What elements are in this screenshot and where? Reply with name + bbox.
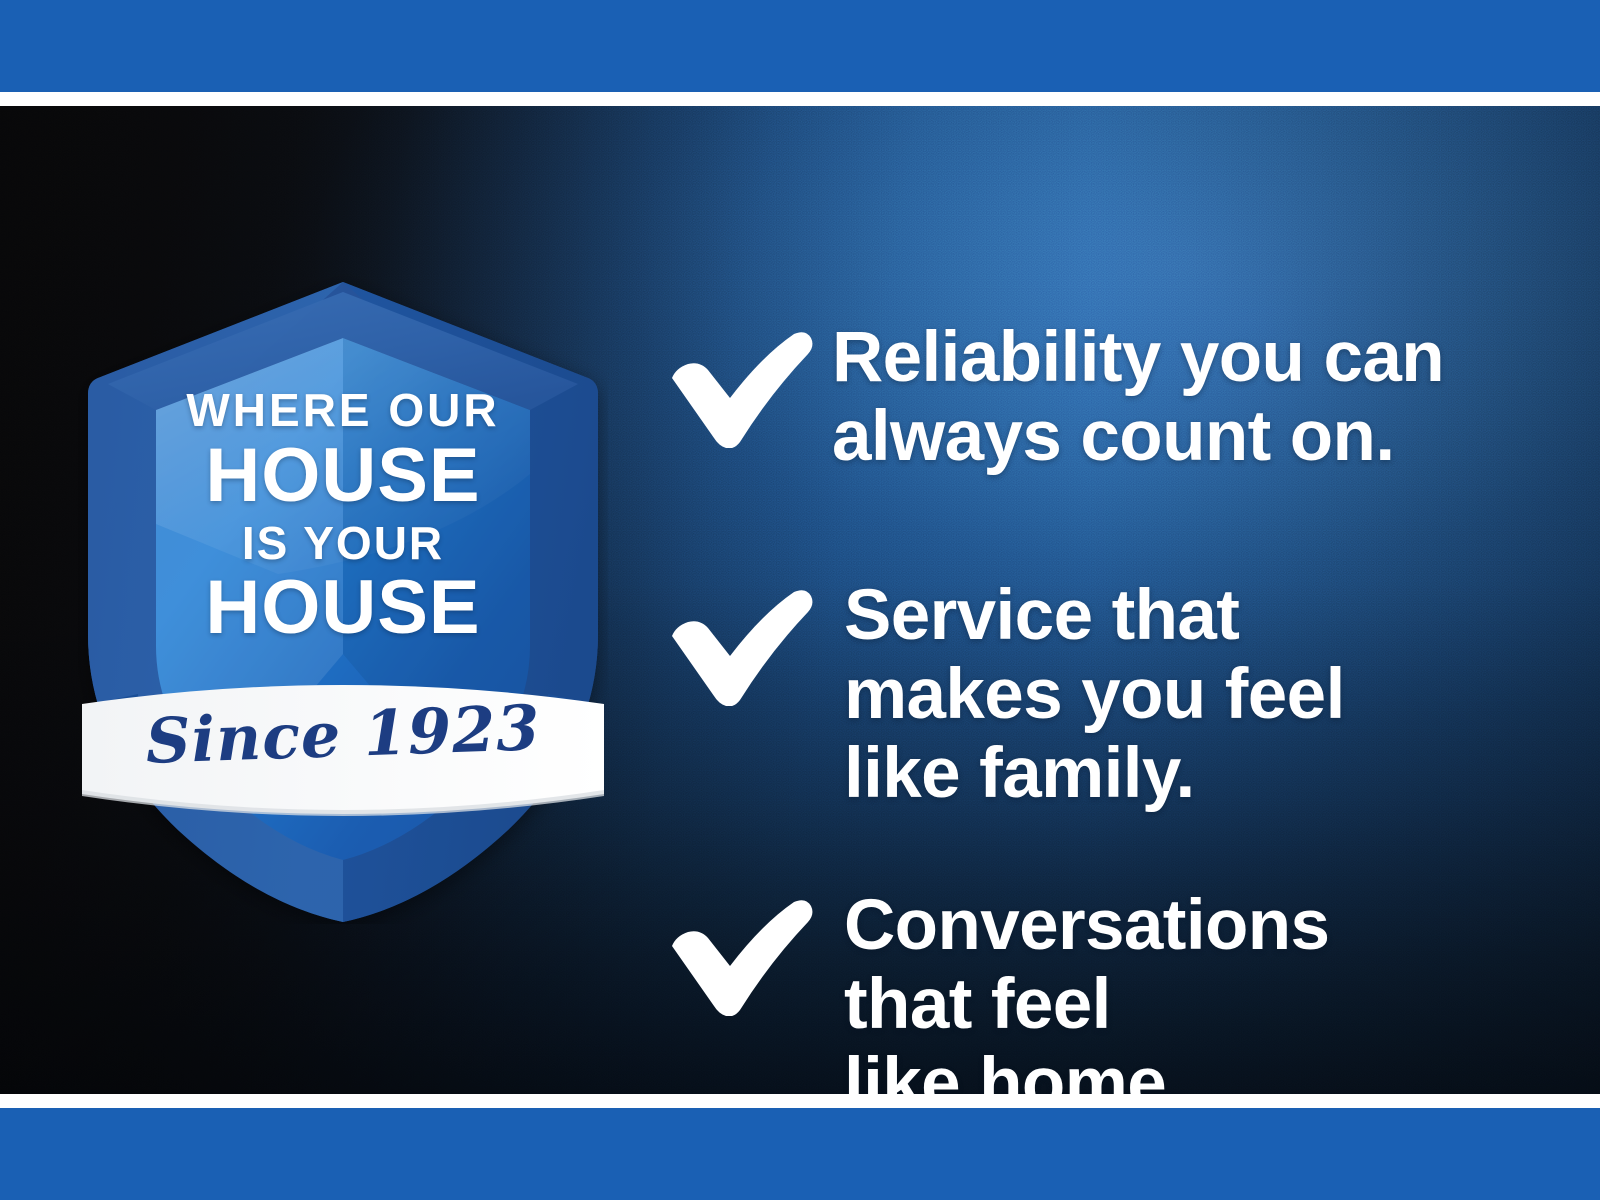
- shield-logo: WHERE OUR HOUSE IS YOUR HOUSE Since 1923: [78, 274, 608, 924]
- shield-line-4: HOUSE: [78, 570, 608, 646]
- shield-line-3: IS YOUR: [78, 520, 608, 566]
- checkmark-icon: [666, 318, 818, 448]
- benefit-text-3: Conversations that feel like home.: [844, 886, 1329, 1094]
- checkmark-icon: [666, 576, 818, 706]
- shield-line-1-text: WHERE OUR: [186, 384, 499, 436]
- shield-line-2-text: HOUSE: [205, 433, 480, 518]
- top-white-divider: [0, 92, 1600, 106]
- main-panel: WHERE OUR HOUSE IS YOUR HOUSE Since 1923: [0, 106, 1600, 1094]
- shield-line-3-text: IS YOUR: [242, 517, 444, 569]
- bottom-white-divider: [0, 1094, 1600, 1108]
- benefit-item-2: Service that makes you feel like family.: [666, 576, 1345, 813]
- shield-line-4-text: HOUSE: [205, 565, 480, 650]
- shield-line-2: HOUSE: [78, 438, 608, 514]
- shield-line-1: WHERE OUR: [78, 387, 608, 433]
- bottom-brand-band: [0, 1108, 1600, 1200]
- checkmark-icon: [666, 886, 818, 1016]
- promo-graphic: WHERE OUR HOUSE IS YOUR HOUSE Since 1923: [0, 0, 1600, 1200]
- benefit-text-2: Service that makes you feel like family.: [844, 576, 1345, 813]
- benefit-text-1: Reliability you can always count on.: [832, 318, 1444, 476]
- top-brand-band: [0, 0, 1600, 92]
- benefit-item-3: Conversations that feel like home.: [666, 886, 1329, 1094]
- benefit-item-1: Reliability you can always count on.: [666, 318, 1444, 476]
